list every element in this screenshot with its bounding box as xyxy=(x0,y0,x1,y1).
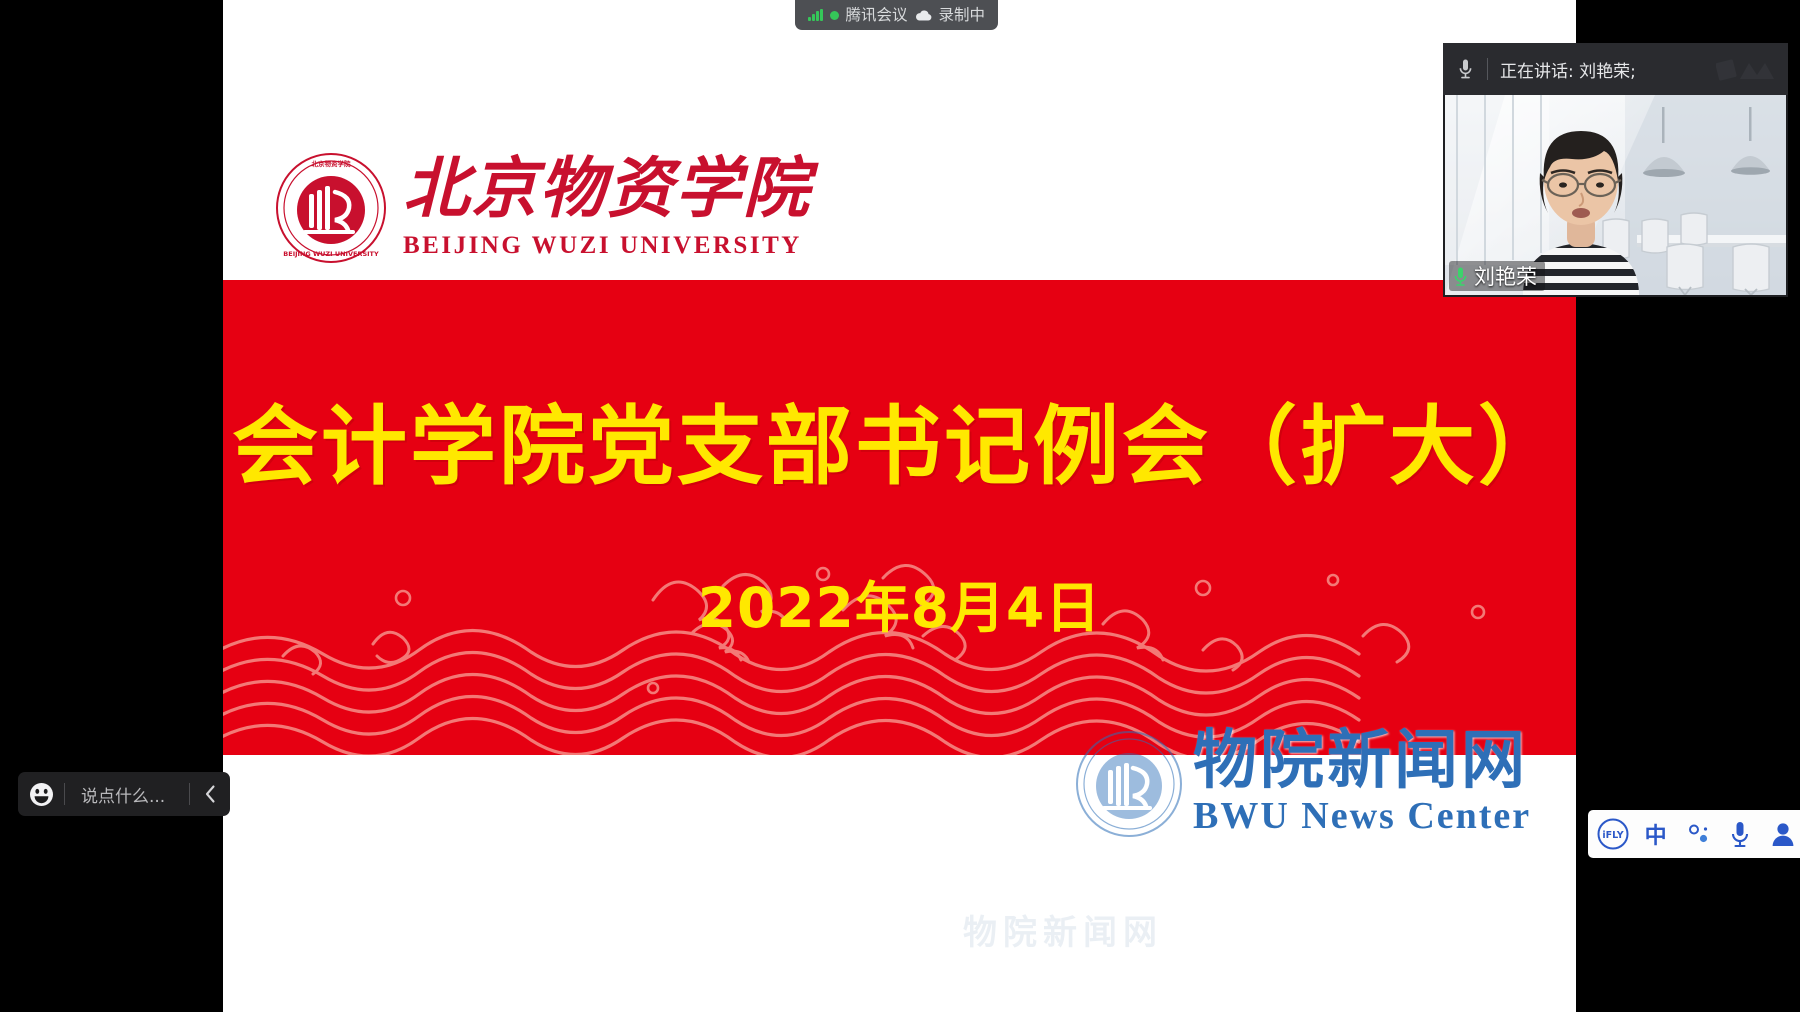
language-mode-label: 中 xyxy=(1645,818,1667,850)
microphone-icon xyxy=(1443,58,1487,80)
banner-title: 会计学院党支部书记例会（扩大） xyxy=(223,376,1576,501)
svg-text:BEIJING WUZI UNIVERSITY: BEIJING WUZI UNIVERSITY xyxy=(283,250,379,258)
signal-bars-icon xyxy=(808,9,823,21)
voice-input-icon[interactable] xyxy=(1722,816,1758,852)
layout-switch-icon[interactable] xyxy=(1716,55,1778,83)
banner-date: 2022年8月4日 xyxy=(223,563,1576,643)
recording-status-label: 录制中 xyxy=(939,0,986,30)
microphone-active-icon xyxy=(1453,266,1468,287)
svg-text:北京物资学院: 北京物资学院 xyxy=(312,159,352,168)
news-center-name-en: BWU News Center xyxy=(1193,794,1531,838)
news-center-name-cn: 物院新闻网 xyxy=(1193,726,1531,796)
language-mode-button[interactable]: 中 xyxy=(1638,816,1674,852)
ime-toolbar[interactable]: iFLY 中 xyxy=(1588,810,1800,858)
participant-video-feed: 刘艳荣 xyxy=(1445,95,1786,295)
university-logo: 北京物资学院 BEIJING WUZI UNIVERSITY 北京物资学院 BE… xyxy=(275,150,775,275)
svg-text:iFLY: iFLY xyxy=(1603,830,1624,841)
university-logo-wordmark: 北京物资学院 BEIJING WUZI UNIVERSITY xyxy=(403,150,773,275)
watermark-ghost-text: 物院新闻网 xyxy=(963,905,1163,954)
participant-name: 刘艳荣 xyxy=(1474,261,1537,291)
university-name-cn: 北京物资学院 xyxy=(403,150,773,230)
bwu-news-seal-icon xyxy=(1075,730,1183,838)
ifly-logo-icon[interactable]: iFLY xyxy=(1595,816,1631,852)
punctuation-icon[interactable] xyxy=(1680,816,1716,852)
participant-name-tag: 刘艳荣 xyxy=(1449,261,1545,291)
shared-slide: 北京物资学院 BEIJING WUZI UNIVERSITY 北京物资学院 BE… xyxy=(223,0,1576,1012)
header-divider xyxy=(1487,58,1488,80)
news-center-wordmark: 物院新闻网 BWU News Center xyxy=(1193,726,1531,838)
university-name-en: BEIJING WUZI UNIVERSITY xyxy=(403,232,773,260)
speaking-status-label: 正在讲话: 刘艳荣; xyxy=(1500,57,1636,82)
chat-input[interactable]: 说点什么... xyxy=(65,782,189,807)
video-tile-header: 正在讲话: 刘艳荣; xyxy=(1443,43,1788,95)
speaker-video-tile[interactable]: 正在讲话: 刘艳荣; xyxy=(1443,43,1788,297)
user-account-icon[interactable] xyxy=(1765,816,1800,852)
meeting-status-pill[interactable]: 腾讯会议 录制中 xyxy=(795,0,998,30)
chevron-left-icon[interactable] xyxy=(190,772,230,816)
live-dot-icon xyxy=(830,11,839,20)
university-seal-icon: 北京物资学院 BEIJING WUZI UNIVERSITY xyxy=(275,152,387,264)
cloud-recording-icon xyxy=(915,9,932,22)
chat-input-bar[interactable]: 说点什么... xyxy=(18,772,230,816)
slide-banner: 会计学院党支部书记例会（扩大） 2022年8月4日 xyxy=(223,280,1576,755)
emoji-smile-icon[interactable] xyxy=(18,772,64,816)
meeting-app-label: 腾讯会议 xyxy=(846,0,908,30)
news-center-watermark: 物院新闻网 BWU News Center xyxy=(1075,726,1555,846)
